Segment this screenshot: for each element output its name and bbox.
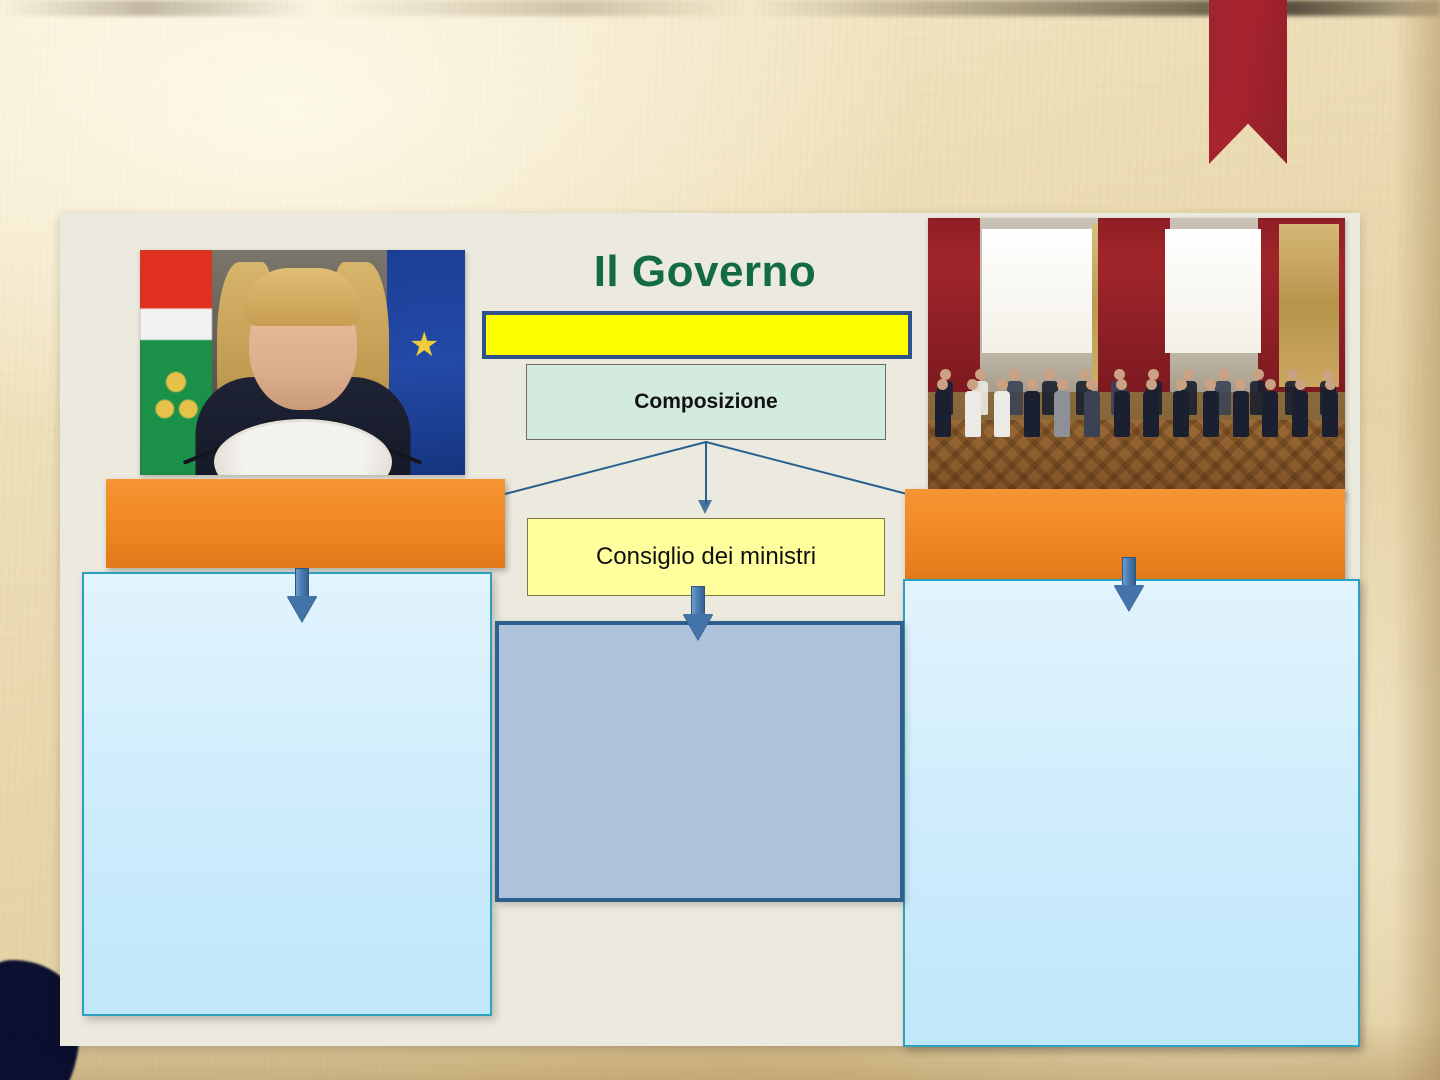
arrow-down-left-icon (287, 568, 317, 624)
connector-arrowhead-center-icon (698, 500, 712, 514)
bookmark-ribbon-icon (1209, 0, 1287, 164)
node-composizione-label: Composizione (634, 390, 778, 414)
node-consiglio-label: Consiglio dei ministri (596, 543, 816, 571)
prime-minister-photo (140, 250, 465, 475)
blue-blank-left[interactable] (82, 572, 492, 1016)
arrow-down-center-icon (683, 586, 713, 642)
yellow-highlight-blank[interactable] (482, 311, 912, 359)
paper-edge-right (1394, 0, 1440, 1080)
page-title: Il Governo (540, 247, 870, 297)
steel-blank-center[interactable] (495, 621, 904, 902)
arrow-down-right-icon (1114, 557, 1144, 613)
connector-line-center (705, 441, 707, 505)
node-consiglio-dei-ministri[interactable]: Consiglio dei ministri (527, 518, 885, 596)
blue-blank-right[interactable] (903, 579, 1360, 1047)
orange-blank-left[interactable] (106, 479, 505, 568)
node-composizione[interactable]: Composizione (526, 364, 886, 440)
cabinet-group-photo (928, 218, 1345, 499)
presentation-slide: Il Governo Composizione Consiglio dei mi… (0, 0, 1440, 1080)
